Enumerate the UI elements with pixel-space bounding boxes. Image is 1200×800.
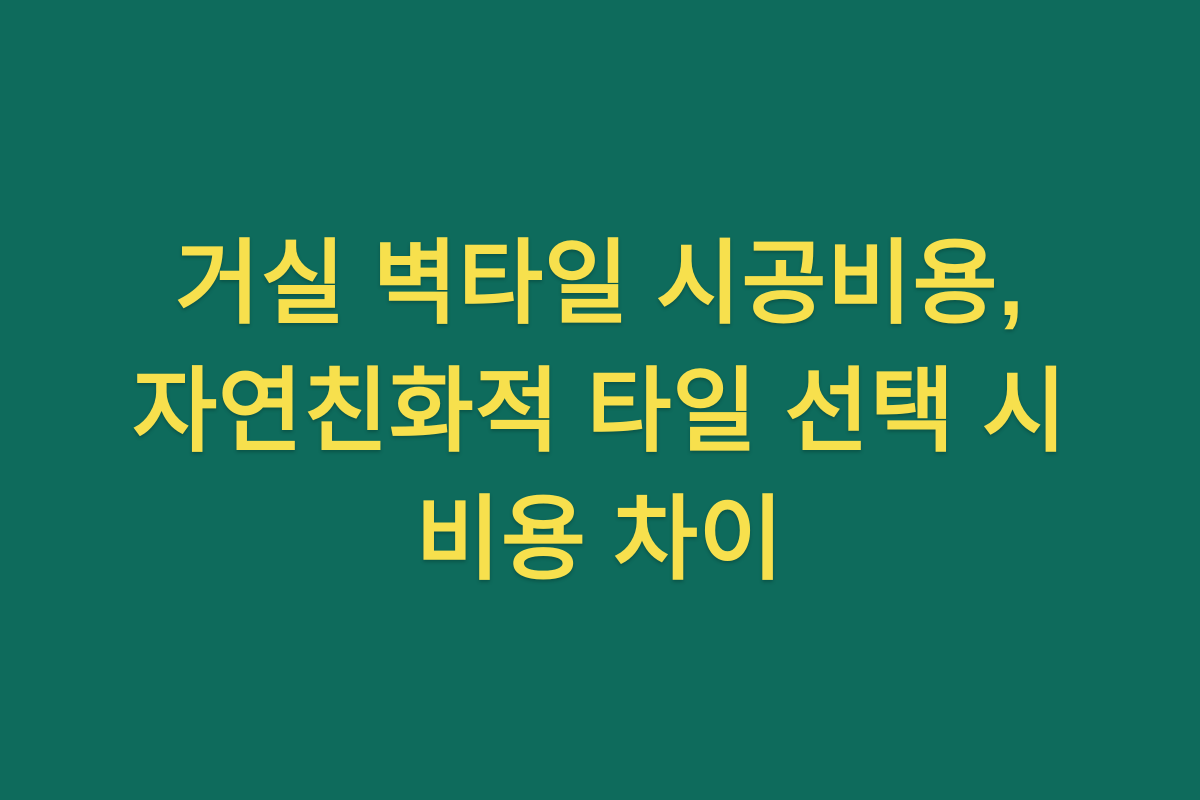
title-line-2: 자연친화적 타일 선택 시 <box>40 348 1160 476</box>
thumbnail-card: 거실 벽타일 시공비용, 자연친화적 타일 선택 시 비용 차이 <box>0 0 1200 800</box>
page-title: 거실 벽타일 시공비용, 자연친화적 타일 선택 시 비용 차이 <box>0 220 1200 604</box>
title-line-1: 거실 벽타일 시공비용, <box>40 220 1160 348</box>
title-line-3: 비용 차이 <box>40 476 1160 604</box>
